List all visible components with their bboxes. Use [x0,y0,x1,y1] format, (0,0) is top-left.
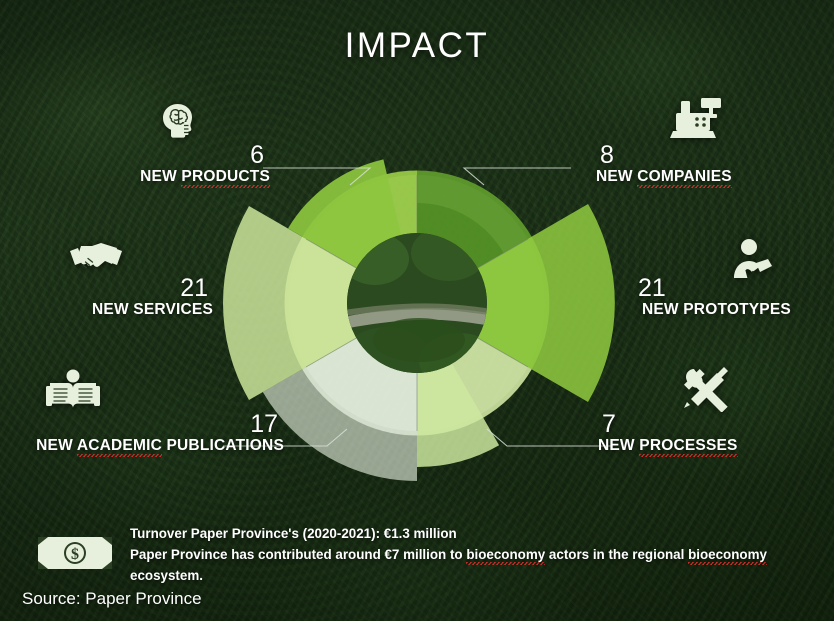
head-brain-icon [155,98,199,145]
callout-label-plain-post: PUBLICATIONS [162,437,284,454]
footer-flagged-bioeconomy-2: bioeconomy [688,547,767,565]
callout-value: 8 [600,143,614,168]
callout-label: NEW PROTOTYPES [642,301,791,318]
callout-label-flagged: PRODUCTS [181,168,270,188]
callout-label: NEW COMPANIES [596,168,732,185]
callout-label-plain: NEW [596,168,637,185]
callout-label-plain-pre: NEW [36,437,77,454]
callout-label: NEW PROCESSES [598,437,738,454]
callout-value: 6 [250,143,264,168]
callout-value: 21 [180,276,208,301]
page-title: IMPACT [0,26,834,66]
hammer-wrench-icon [682,364,736,417]
person-reading-icon [728,238,780,285]
footer-summary: $ Turnover Paper Province's (2020-2021):… [36,524,834,586]
callout-value: 7 [602,412,616,437]
footer-flagged-bioeconomy-1: bioeconomy [466,547,545,565]
open-book-person-icon [46,369,100,418]
callout-value: 21 [638,276,666,301]
callout-label-flagged: ACADEMIC [77,437,162,457]
handshake-icon [68,238,124,283]
callout-value: 17 [250,412,278,437]
callout-label-flagged: PROCESSES [639,437,737,457]
footer-line-turnover: Turnover Paper Province's (2020-2021): €… [130,524,834,545]
footer-line-contribution: Paper Province has contributed around €7… [130,545,834,587]
callout-label: NEW PRODUCTS [140,168,270,185]
cash-register-icon [668,95,726,150]
callout-label: NEW ACADEMIC PUBLICATIONS [36,437,284,454]
footer-text-a: Paper Province has contributed around €7… [130,547,466,562]
callout-label-flagged: COMPANIES [637,168,732,188]
footer-text-e: ecosystem. [130,568,203,583]
footer-text-c: actors in the regional [545,547,688,562]
callout-label-plain: NEW [598,437,639,454]
source-attribution: Source: Paper Province [22,589,202,609]
callout-label-plain: NEW [140,168,181,185]
callout-label: NEW SERVICES [92,301,213,318]
banknote-dollar-icon: $ [36,533,114,578]
footer-text-block: Turnover Paper Province's (2020-2021): €… [130,524,834,586]
svg-text:$: $ [71,546,79,563]
infographic-canvas: IMPACT [0,0,834,621]
